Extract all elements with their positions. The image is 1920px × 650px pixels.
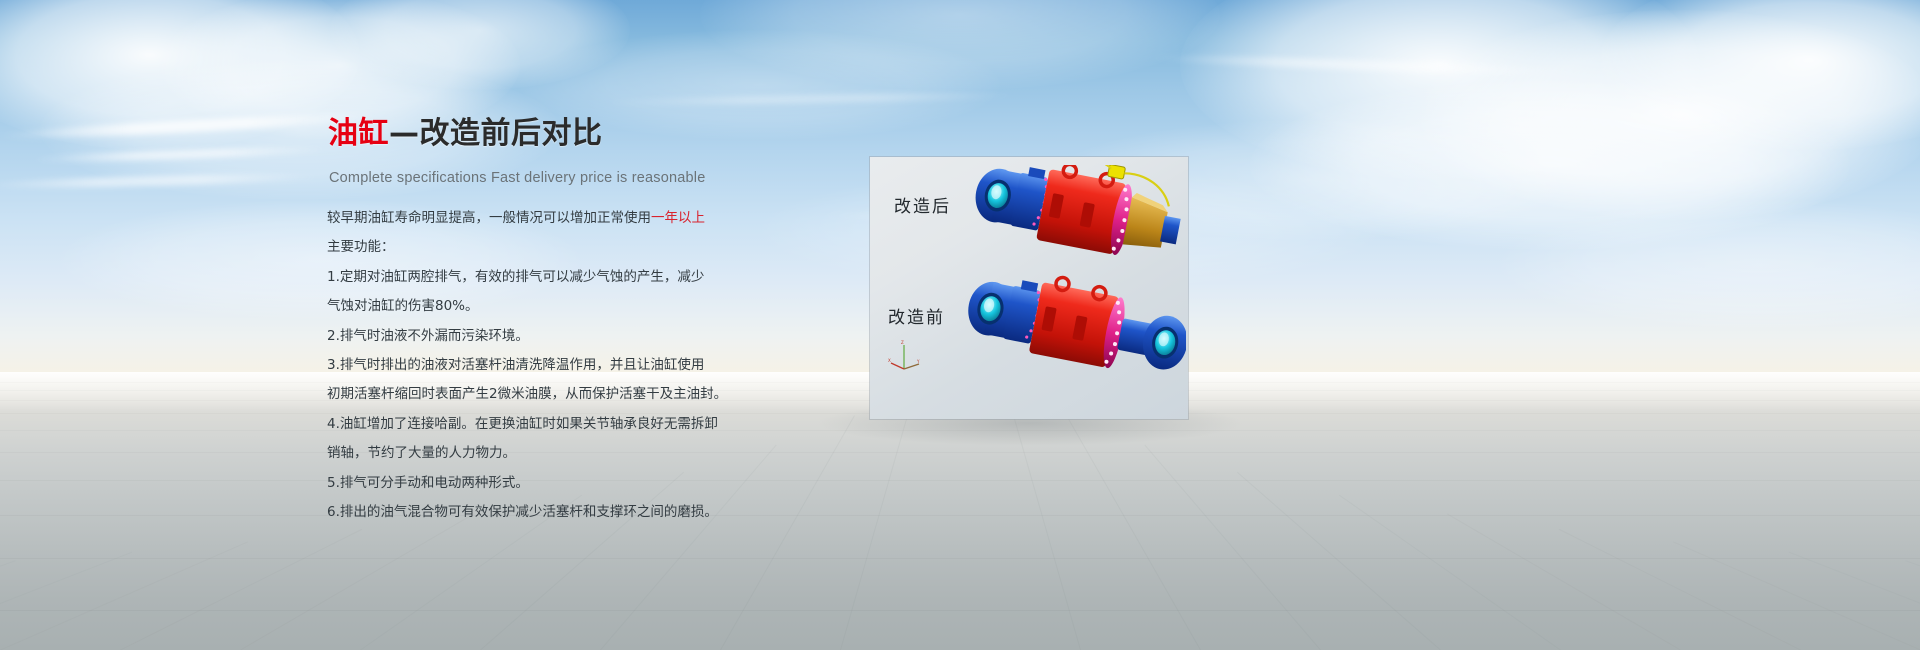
hero-banner: 油缸—改造前后对比 Complete specifications Fast d… bbox=[0, 0, 1920, 650]
feature-line-text: 主要功能： bbox=[327, 239, 395, 255]
feature-line-text: 1.定期对油缸两腔排气，有效的排气可以减少气蚀的产生，减少 bbox=[327, 269, 704, 285]
page-subtitle: Complete specifications Fast delivery pr… bbox=[329, 170, 705, 186]
feature-line: 气蚀对油缸的伤害80%。 bbox=[327, 292, 747, 321]
hydraulic-cylinder-before-illustration bbox=[960, 275, 1186, 405]
label-after-modification: 改造后 bbox=[894, 192, 951, 217]
banner-content: 油缸—改造前后对比 Complete specifications Fast d… bbox=[0, 0, 1920, 650]
feature-line: 5.排气可分手动和电动两种形式。 bbox=[327, 469, 747, 498]
page-title-highlight: 油缸 bbox=[328, 116, 389, 151]
feature-line: 1.定期对油缸两腔排气，有效的排气可以减少气蚀的产生，减少 bbox=[327, 263, 747, 292]
feature-line-text: 较早期油缸寿命明显提高，一般情况可以增加正常使用 bbox=[327, 210, 651, 226]
feature-line-text: 3.排气时排出的油液对活塞杆油清洗降温作用，并且让油缸使用 bbox=[327, 357, 704, 373]
feature-line: 6.排出的油气混合物可有效保护减少活塞杆和支撑环之间的磨损。 bbox=[327, 498, 747, 527]
feature-line: 2.排气时油液不外漏而污染环境。 bbox=[327, 322, 747, 351]
page-title: 油缸—改造前后对比 bbox=[328, 108, 603, 152]
page-title-rest: —改造前后对比 bbox=[389, 116, 603, 151]
hydraulic-cylinder-after-illustration bbox=[968, 165, 1184, 281]
label-before-modification: 改造前 bbox=[888, 303, 945, 328]
feature-line: 销轴，节约了大量的人力物力。 bbox=[327, 439, 747, 468]
feature-line-text: 气蚀对油缸的伤害80%。 bbox=[327, 298, 479, 314]
feature-list: 较早期油缸寿命明显提高，一般情况可以增加正常使用一年以上主要功能：1.定期对油缸… bbox=[327, 204, 747, 527]
feature-line-text: 5.排气可分手动和电动两种形式。 bbox=[327, 475, 529, 491]
feature-line-text: 销轴，节约了大量的人力物力。 bbox=[327, 445, 516, 461]
feature-line-text: 4.油缸增加了连接哈副。在更换油缸时如果关节轴承良好无需拆卸 bbox=[327, 416, 718, 432]
cad-comparison-panel: 改造后 改造前 Z X Y bbox=[870, 157, 1188, 419]
feature-line: 较早期油缸寿命明显提高，一般情况可以增加正常使用一年以上 bbox=[327, 204, 747, 233]
feature-line-text: 6.排出的油气混合物可有效保护减少活塞杆和支撑环之间的磨损。 bbox=[327, 504, 718, 520]
feature-line: 主要功能： bbox=[327, 233, 747, 262]
axis-triad-icon: Z X Y bbox=[888, 339, 922, 373]
svg-text:Y: Y bbox=[916, 359, 920, 364]
feature-line-text: 初期活塞杆缩回时表面产生2微米油膜，从而保护活塞干及主油封。 bbox=[327, 386, 727, 402]
feature-line: 4.油缸增加了连接哈副。在更换油缸时如果关节轴承良好无需拆卸 bbox=[327, 410, 747, 439]
feature-line-text: 2.排气时油液不外漏而污染环境。 bbox=[327, 328, 529, 344]
feature-line: 初期活塞杆缩回时表面产生2微米油膜，从而保护活塞干及主油封。 bbox=[327, 380, 747, 409]
svg-text:X: X bbox=[888, 358, 891, 363]
feature-line: 3.排气时排出的油液对活塞杆油清洗降温作用，并且让油缸使用 bbox=[327, 351, 747, 380]
feature-line-emphasis: 一年以上 bbox=[651, 210, 705, 226]
svg-text:Z: Z bbox=[901, 340, 904, 345]
